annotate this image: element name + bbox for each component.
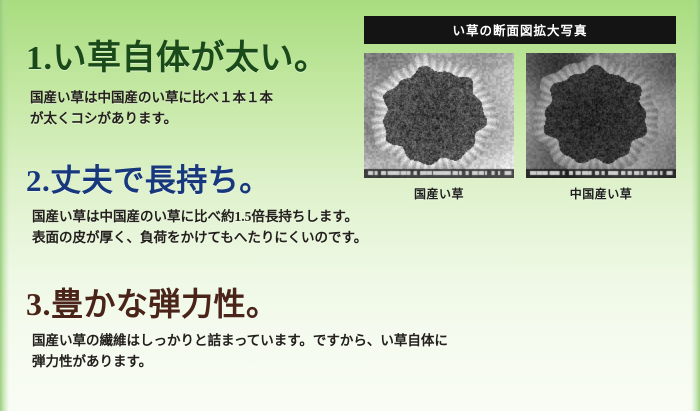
infographic-page: 1.い草自体が太い。 国産い草は中国産のい草に比べ１本１本 が太くコシがあります… bbox=[0, 0, 700, 411]
photo-caption-chinese: 中国産い草 bbox=[526, 185, 676, 202]
micrograph-chinese-image bbox=[526, 53, 676, 178]
section-2-body-line-2: 表面の皮が厚く、負荷をかけてもへたりにくいのです。 bbox=[32, 228, 500, 249]
photo-panel: い草の断面図拡大写真 国産い草 中国産い草 bbox=[364, 16, 676, 202]
photo-caption-domestic: 国産い草 bbox=[364, 185, 514, 202]
photo-row: 国産い草 中国産い草 bbox=[364, 53, 676, 202]
right-edge-stripe bbox=[691, 0, 700, 411]
photo-cell-chinese: 中国産い草 bbox=[526, 53, 676, 202]
micrograph-chinese bbox=[526, 53, 676, 178]
micrograph-domestic bbox=[364, 53, 514, 178]
micrograph-domestic-image bbox=[364, 53, 514, 178]
section-2-body-line-1: 国産い草は中国産のい草に比べ約1.5倍長持ちします。 bbox=[32, 207, 500, 228]
photo-panel-title: い草の断面図拡大写真 bbox=[364, 16, 676, 44]
section-3-body: 国産い草の繊維はしっかりと詰まっています。ですから、い草自体に 弾力性があります… bbox=[32, 331, 500, 373]
photo-cell-domestic: 国産い草 bbox=[364, 53, 514, 202]
section-3-heading: 3.豊かな弾力性。 bbox=[26, 288, 500, 320]
section-3-body-line-1: 国産い草の繊維はしっかりと詰まっています。ですから、い草自体に bbox=[32, 331, 500, 352]
section-3-body-line-2: 弾力性があります。 bbox=[32, 352, 500, 373]
section-3: 3.豊かな弾力性。 国産い草の繊維はしっかりと詰まっています。ですから、い草自体… bbox=[0, 288, 500, 373]
section-2-body: 国産い草は中国産のい草に比べ約1.5倍長持ちします。 表面の皮が厚く、負荷をかけ… bbox=[32, 207, 500, 249]
